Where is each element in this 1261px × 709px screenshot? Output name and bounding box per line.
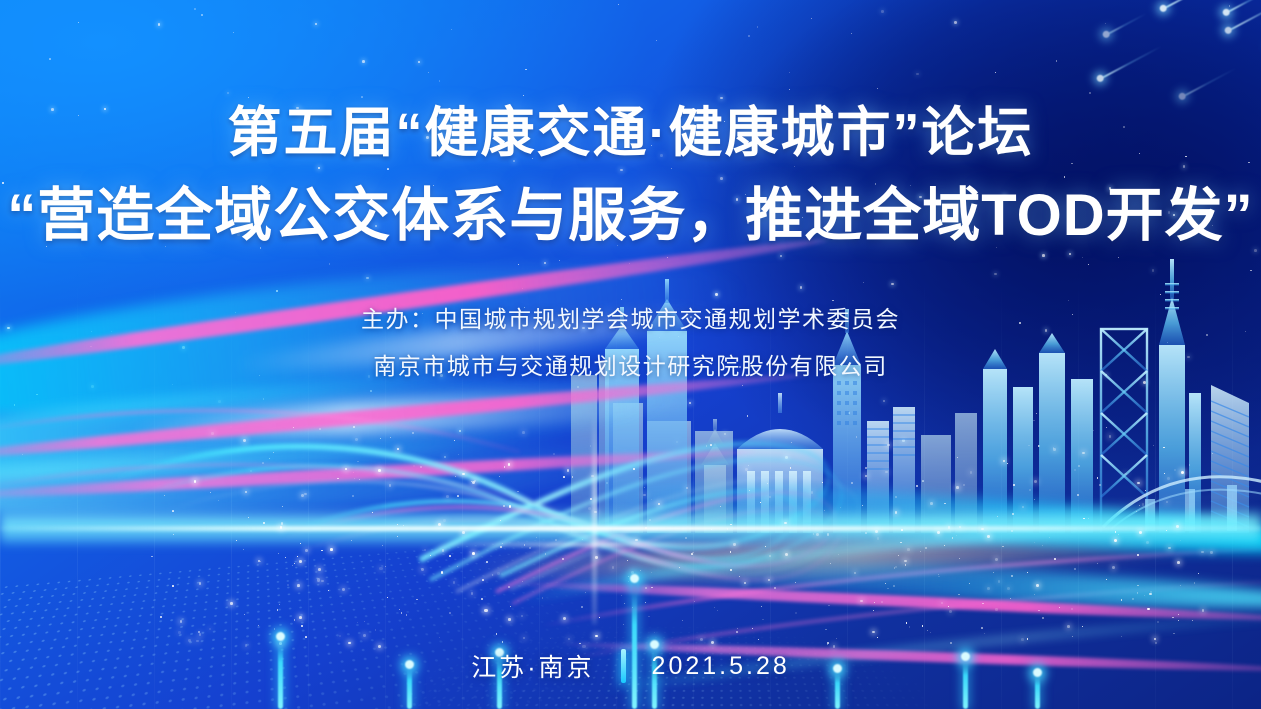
page-title-line-1: 第五届“健康交通·健康城市”论坛 — [0, 104, 1261, 162]
event-location: 江苏·南京 — [471, 648, 594, 684]
vertical-divider-icon — [621, 649, 626, 683]
poster-content: 第五届“健康交通·健康城市”论坛 “营造全域公交体系与服务，推进全域TOD开发”… — [0, 0, 1261, 709]
organizer-line-2: 南京市城市与交通规划设计研究院股份有限公司 — [0, 347, 1261, 381]
event-date: 2021.5.28 — [652, 652, 790, 681]
event-poster: 第五届“健康交通·健康城市”论坛 “营造全域公交体系与服务，推进全域TOD开发”… — [0, 0, 1261, 709]
event-footer: 江苏·南京 2021.5.28 — [0, 648, 1261, 684]
page-title-line-2: “营造全域公交体系与服务，推进全域TOD开发” — [0, 185, 1261, 248]
organizer-line-1: 主办：中国城市规划学会城市交通规划学术委员会 — [0, 300, 1261, 334]
